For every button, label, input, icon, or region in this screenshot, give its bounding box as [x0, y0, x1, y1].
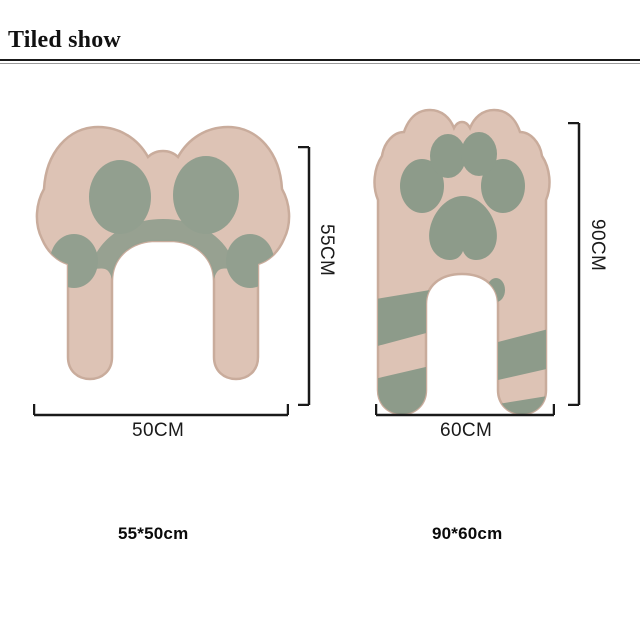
header-divider [0, 59, 640, 61]
page-title: Tiled show [8, 26, 121, 54]
mat-illustration-large [370, 104, 560, 424]
product-caption-large: 90*60cm [432, 524, 502, 544]
product-caption-small: 55*50cm [118, 524, 188, 544]
dimension-bracket-height-small [296, 146, 312, 406]
dimension-label-width-large: 60CM [440, 420, 492, 442]
dimension-label-height-large: 90CM [586, 219, 608, 271]
product-diagram-stage: 55CM 90CM 50CM 60CM 55*50cm 90*60cm [0, 64, 640, 640]
page-header: Tiled show [0, 0, 640, 62]
mat-illustration-small [28, 119, 298, 419]
dimension-bracket-width-small [33, 402, 289, 418]
dimension-bracket-width-large [375, 402, 555, 418]
dimension-label-width-small: 50CM [132, 420, 184, 442]
dimension-bracket-height-large [566, 122, 582, 406]
dimension-label-height-small: 55CM [315, 224, 337, 276]
